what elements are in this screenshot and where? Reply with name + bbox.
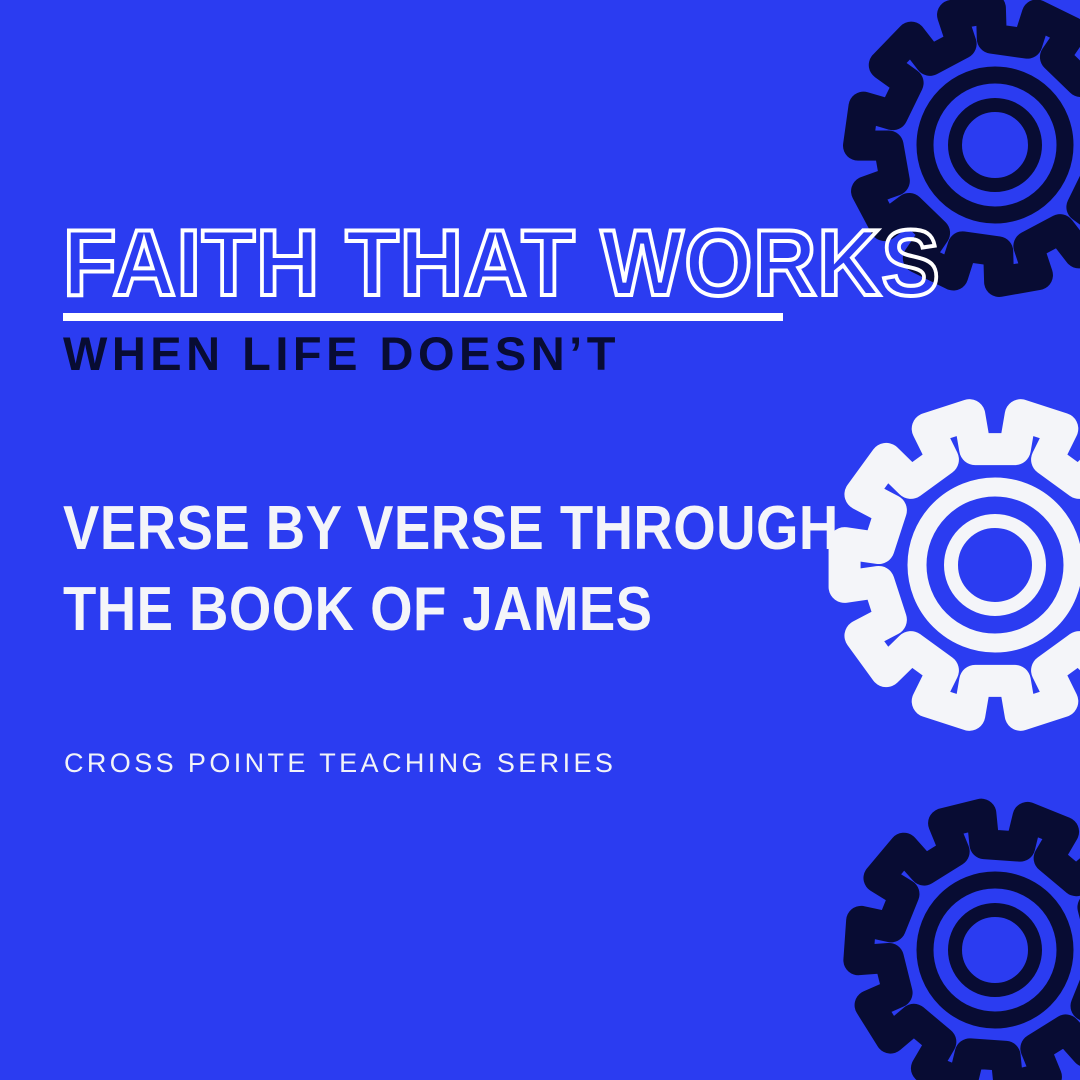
poster-canvas: FAITH THAT WORKS WHEN LIFE DOESN’T VERSE… — [0, 0, 1080, 1080]
series-line-1: VERSE BY VERSE THROUGH — [63, 489, 839, 570]
title-subtitle: WHEN LIFE DOESN’T — [63, 329, 620, 378]
series-line-2: THE BOOK OF JAMES — [63, 570, 839, 651]
series-kicker: CROSS POINTE TEACHING SERIES — [64, 748, 616, 779]
title-divider-rule — [63, 313, 783, 321]
series-description: VERSE BY VERSE THROUGH THE BOOK OF JAMES — [63, 489, 839, 650]
page-title: FAITH THAT WORKS — [63, 222, 770, 305]
poster-text-layer: FAITH THAT WORKS WHEN LIFE DOESN’T VERSE… — [0, 0, 1080, 1080]
title-block: FAITH THAT WORKS — [63, 222, 823, 305]
